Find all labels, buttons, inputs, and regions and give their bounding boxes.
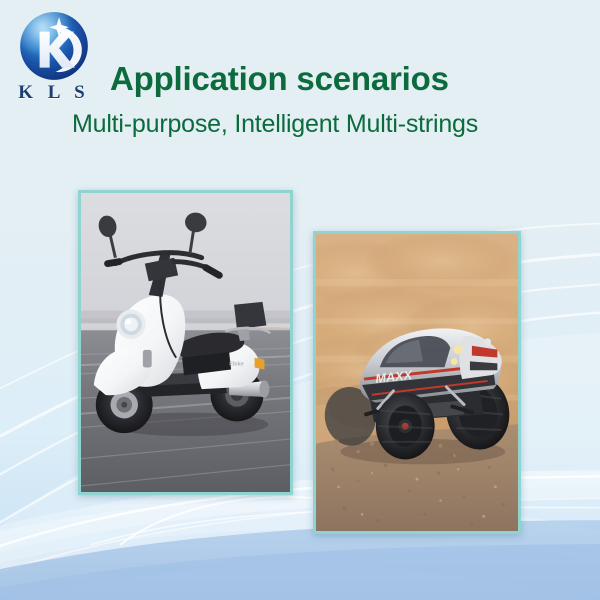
application-scenarios-slide: K L S Application scenarios Multi-purpos…: [0, 0, 600, 600]
electric-scooter-photo: Ebike: [78, 190, 293, 495]
electric-scooter-illustration: Ebike: [81, 193, 290, 492]
page-title: Application scenarios: [0, 60, 600, 98]
page-subtitle: Multi-purpose, Intelligent Multi-strings: [0, 110, 600, 139]
rc-monster-truck-illustration: MAXX: [316, 234, 518, 531]
svg-text:Ebike: Ebike: [229, 362, 244, 368]
rc-monster-truck-photo: MAXX: [313, 231, 521, 534]
